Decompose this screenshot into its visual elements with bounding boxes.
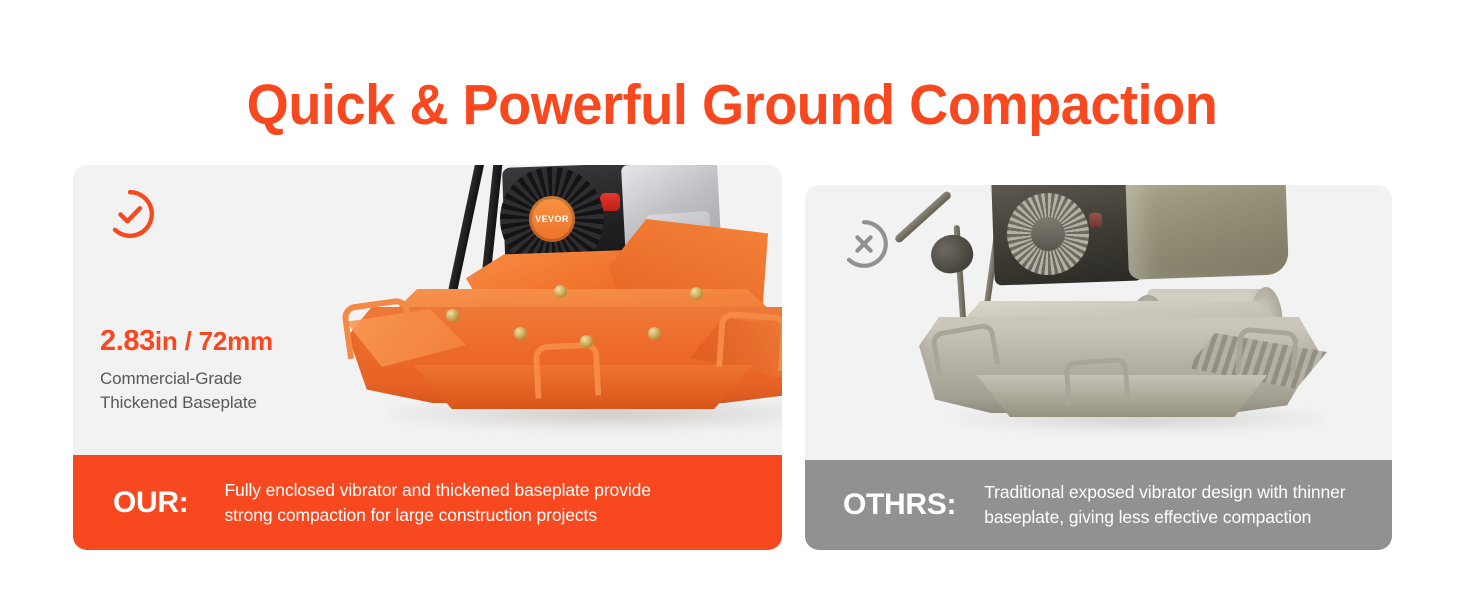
brand-label: VEVOR (535, 214, 569, 224)
spec-unit: in / 72mm (155, 326, 273, 356)
other-caption-bar: OTHRS: Traditional exposed vibrator desi… (805, 460, 1392, 550)
other-caption-label: OTHRS: (843, 488, 956, 522)
comparison-banner: Quick & Powerful Ground Compaction VEVOR (0, 0, 1464, 600)
lift-handle-left (341, 297, 416, 360)
our-caption-label: OUR: (113, 486, 188, 520)
spec-value: 2.83 (100, 325, 155, 357)
bolt (648, 327, 661, 340)
lift-handle-right (716, 311, 782, 372)
page-title: Quick & Powerful Ground Compaction (37, 70, 1428, 140)
bolt (446, 309, 459, 322)
spec-block: 2.83in / 72mm Commercial-Grade Thickened… (100, 325, 273, 415)
bolt (554, 285, 567, 298)
check-circle-icon (104, 188, 156, 240)
x-circle-icon (838, 218, 890, 270)
our-compactor-illustration: VEVOR (318, 165, 782, 459)
handle-knob (928, 231, 977, 277)
spec-description: Commercial-Grade Thickened Baseplate (100, 367, 273, 415)
fuel-tank (1125, 185, 1289, 280)
other-product-card: OTHRS: Traditional exposed vibrator desi… (805, 185, 1392, 550)
our-caption-text: Fully enclosed vibrator and thickened ba… (224, 478, 650, 528)
lift-handle-middle (1064, 357, 1131, 406)
lift-handle-middle (533, 341, 602, 398)
lift-handle-right (1235, 326, 1299, 378)
other-caption-text: Traditional exposed vibrator design with… (984, 480, 1345, 530)
bolt (580, 335, 593, 348)
spec-value-row: 2.83in / 72mm (100, 325, 273, 358)
bolt (690, 287, 703, 300)
bolt (514, 327, 527, 340)
fuel-cap (1089, 213, 1102, 227)
recoil-starter (1007, 193, 1089, 275)
other-compactor-illustration (897, 185, 1367, 462)
our-caption-bar: OUR: Fully enclosed vibrator and thicken… (73, 455, 782, 550)
our-product-card: VEVOR (73, 165, 782, 550)
